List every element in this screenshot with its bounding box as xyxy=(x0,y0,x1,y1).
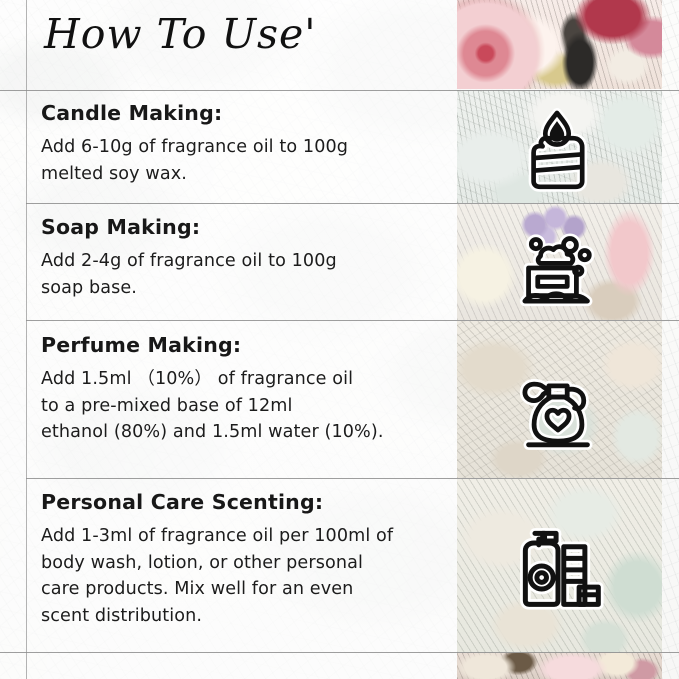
section-body-soap: Add 2-4g of fragrance oil to 100g soap b… xyxy=(41,248,441,301)
rose-and-insect-botanical-photo xyxy=(457,0,662,89)
floral-botanical-photo xyxy=(457,653,662,679)
section-heading-soap: Soap Making: xyxy=(41,215,441,239)
section-soap: Soap Making: Add 2-4g of fragrance oil t… xyxy=(41,215,441,301)
pastel-botanical-illustration xyxy=(457,479,662,653)
pastel-botanical-illustration xyxy=(457,204,662,320)
pastel-botanical-illustration xyxy=(457,90,662,203)
how-to-use-infographic: How To Use' Candle Making: Add 6-10g of … xyxy=(0,0,679,679)
divider-after-personal-care xyxy=(0,652,679,653)
side-art-panel-perfume xyxy=(457,321,662,478)
side-art-panel-soap xyxy=(457,204,662,320)
section-body-personal-care: Add 1-3ml of fragrance oil per 100ml of … xyxy=(41,523,461,630)
divider-after-title xyxy=(0,90,679,91)
divider-after-perfume xyxy=(26,478,679,479)
divider-after-candle xyxy=(26,203,679,204)
side-art-panel-candle xyxy=(457,90,662,203)
section-heading-personal-care: Personal Care Scenting: xyxy=(41,490,461,514)
section-candle: Candle Making: Add 6-10g of fragrance oi… xyxy=(41,101,441,187)
section-body-perfume: Add 1.5ml （10%） of fragrance oil to a pr… xyxy=(41,366,441,446)
section-perfume: Perfume Making: Add 1.5ml （10%） of fragr… xyxy=(41,333,441,446)
page-title: How To Use' xyxy=(44,10,317,58)
section-heading-candle: Candle Making: xyxy=(41,101,441,125)
left-vertical-rule xyxy=(26,0,27,679)
side-art-panel-personal-care xyxy=(457,479,662,653)
section-heading-perfume: Perfume Making: xyxy=(41,333,441,357)
pastel-botanical-illustration xyxy=(457,321,662,478)
divider-after-soap xyxy=(26,320,679,321)
decorative-right-column xyxy=(457,0,679,679)
right-edge-strip xyxy=(662,0,679,679)
section-body-candle: Add 6-10g of fragrance oil to 100g melte… xyxy=(41,134,441,187)
section-personal-care: Personal Care Scenting: Add 1-3ml of fra… xyxy=(41,490,461,630)
